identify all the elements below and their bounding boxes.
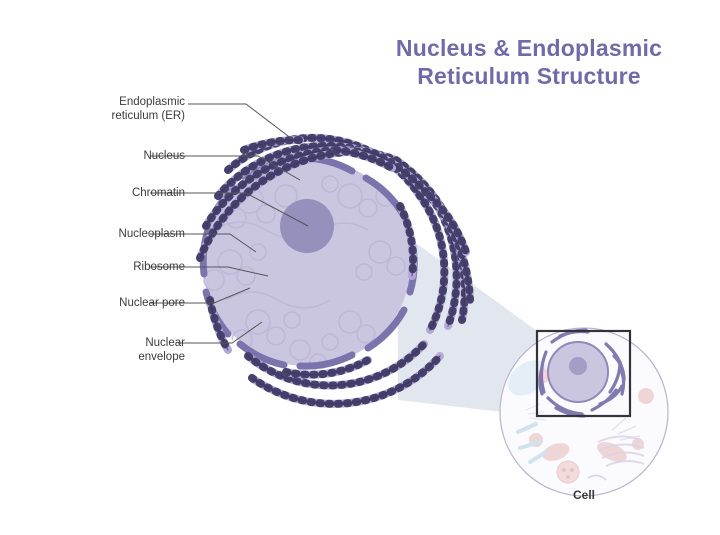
inset-caption: Cell	[534, 488, 634, 502]
label-nucleus: Nucleus	[55, 149, 185, 163]
label-er: Endoplasmic reticulum (ER)	[55, 95, 185, 124]
label-chromatin: Chromatin	[55, 186, 185, 200]
cell-inset	[500, 328, 668, 496]
leader-er	[188, 104, 292, 139]
diagram-canvas: Nucleus & Endoplasmic Reticulum Structur…	[0, 0, 720, 535]
label-ribosome: Ribosome	[55, 260, 185, 274]
label-nucleoplasm: Nucleoplasm	[35, 227, 185, 241]
label-nuclear-pore: Nuclear pore	[45, 296, 185, 310]
label-nuclear-envelope: Nuclear envelope	[85, 336, 185, 365]
